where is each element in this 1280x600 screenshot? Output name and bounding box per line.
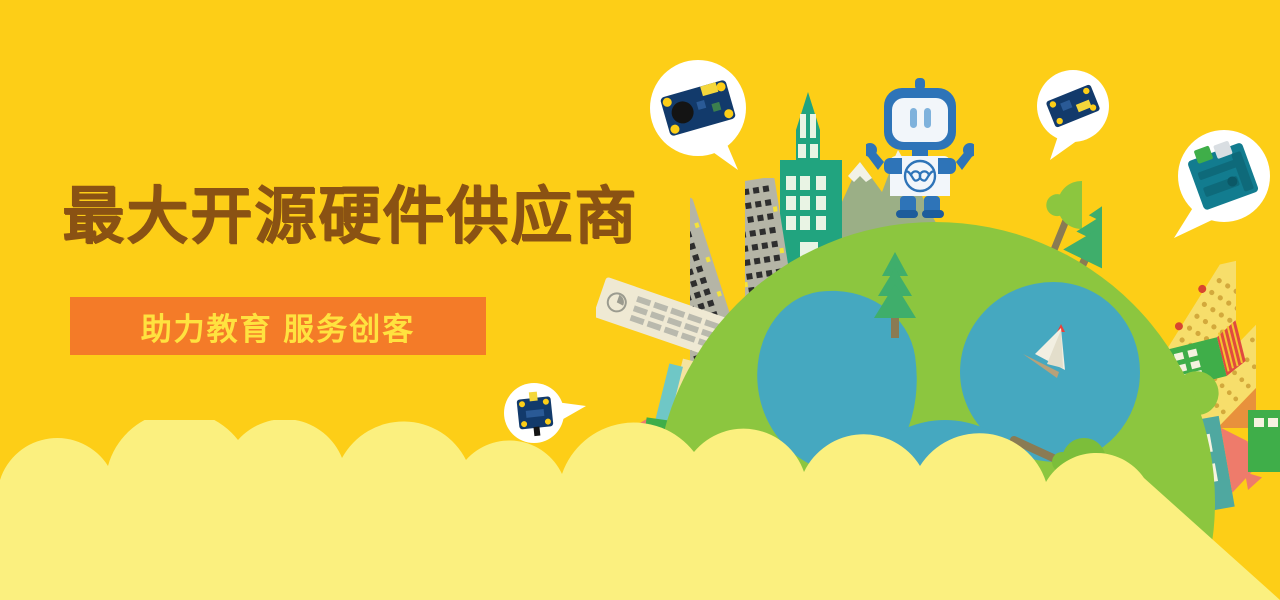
promo-banner: 最大开源硬件供应商 助力教育 服务创客 [0, 0, 1280, 600]
bubble-arduino-uno[interactable] [1168, 124, 1278, 240]
pine-tree-globe-icon [872, 248, 918, 338]
bubble-sensor-module-top-left[interactable] [648, 58, 756, 170]
page-title: 最大开源硬件供应商 [62, 186, 638, 248]
subtitle-text: 助力教育 服务创客 [70, 297, 486, 355]
sailboat-icon [1013, 320, 1083, 380]
cloud-band [0, 420, 1280, 600]
robot-mascot-icon [866, 78, 974, 218]
bubble-sensor-module-top-right[interactable] [1032, 66, 1114, 162]
